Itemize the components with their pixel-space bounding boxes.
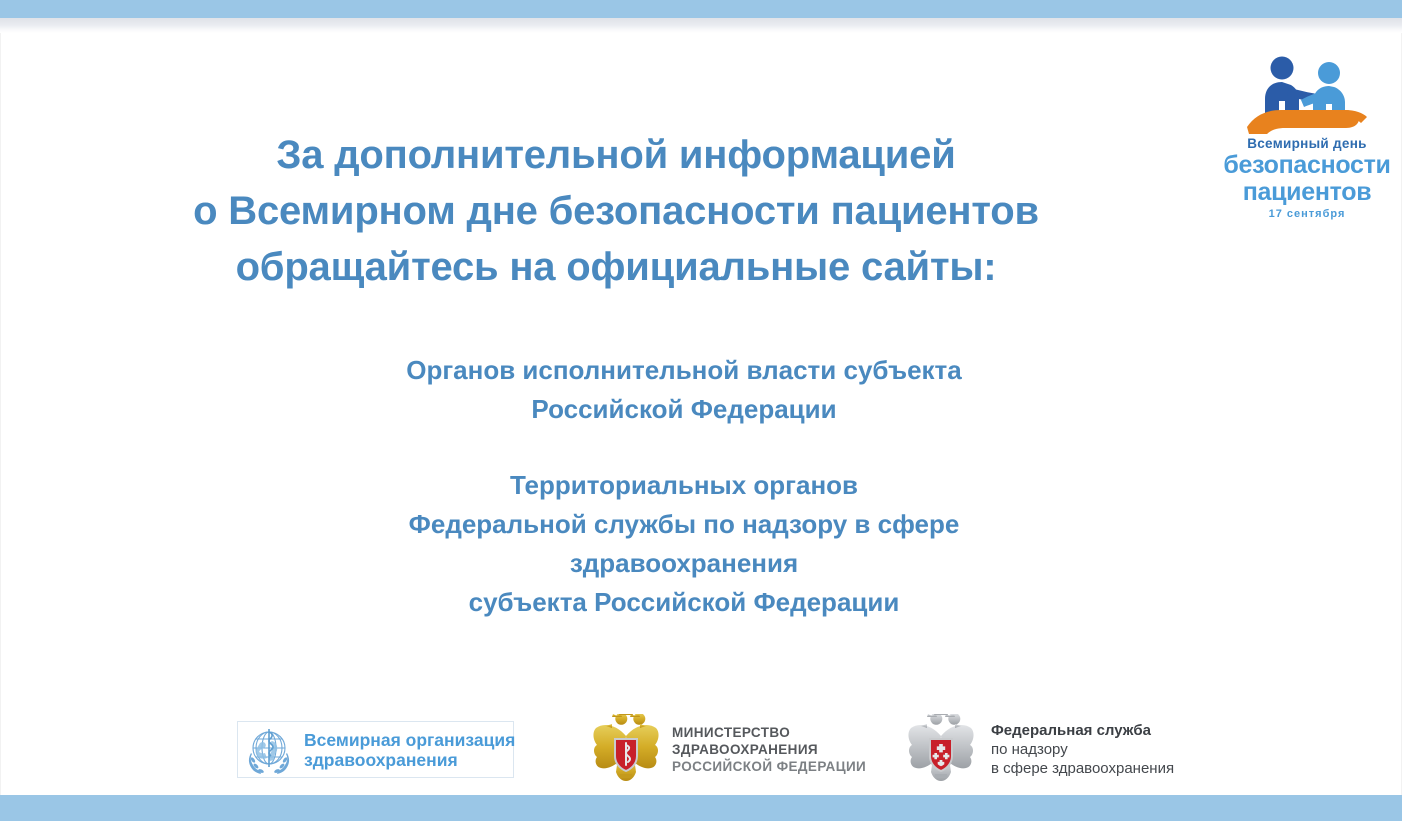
roszdravnadzor-line-3: в сфере здравоохранения <box>991 759 1174 778</box>
ministry-of-health-logo: МИНИСТЕРСТВО ЗДРАВООХРАНЕНИЯ РОССИЙСКОЙ … <box>590 714 870 784</box>
who-logo: Всемирная организация здравоохранения <box>237 721 514 778</box>
two-figures-on-hand-icon <box>1241 55 1373 135</box>
silver-double-headed-eagle-icon <box>905 714 977 784</box>
who-logo-line-2: здравоохранения <box>304 750 515 770</box>
roszdravnadzor-logo-text: Федеральная служба по надзору в сфере зд… <box>991 721 1174 778</box>
paragraph-2-line-1: Территориальных органов <box>1 466 1367 505</box>
ministry-of-health-logo-text: МИНИСТЕРСТВО ЗДРАВООХРАНЕНИЯ РОССИЙСКОЙ … <box>672 724 866 775</box>
footer-logo-strip: Всемирная организация здравоохранения <box>1 673 1402 773</box>
paragraph-2-line-3: здравоохранения <box>1 544 1367 583</box>
wpsd-logo-line-3: пациентов <box>1219 180 1395 205</box>
wpsd-logo-date: 17 сентября <box>1219 209 1395 220</box>
roszdravnadzor-line-2: по надзору <box>991 740 1174 759</box>
roszdravnadzor-line-1: Федеральная служба <box>991 721 1174 740</box>
gold-double-headed-eagle-icon <box>590 714 662 784</box>
world-patient-safety-day-logo: Всемирный день безопасности пациентов 17… <box>1219 55 1395 215</box>
roszdravnadzor-logo: Федеральная служба по надзору в сфере зд… <box>905 714 1205 784</box>
top-accent-bar <box>0 0 1402 18</box>
paragraph-1-line-2: Российской Федерации <box>1 390 1367 429</box>
wpsd-logo-line-1: Всемирный день <box>1219 137 1395 151</box>
who-logo-line-1: Всемирная организация <box>304 730 515 750</box>
slide-title-line-3: обращайтесь на официальные сайты: <box>1 239 1231 295</box>
wpsd-logo-line-2: безопасности <box>1219 153 1395 178</box>
minzdrav-line-2: ЗДРАВООХРАНЕНИЯ <box>672 741 866 758</box>
paragraph-2-line-2: Федеральной службы по надзору в сфере <box>1 505 1367 544</box>
who-logo-text: Всемирная организация здравоохранения <box>304 730 515 770</box>
slide-title: За дополнительной информацией о Всемирно… <box>1 127 1231 295</box>
slide-title-line-1: За дополнительной информацией <box>1 127 1231 183</box>
paragraph-1-line-1: Органов исполнительной власти субъекта <box>1 351 1367 390</box>
who-emblem-icon <box>241 723 297 776</box>
minzdrav-line-1: МИНИСТЕРСТВО <box>672 724 866 741</box>
world-patient-safety-day-logo-text: Всемирный день безопасности пациентов 17… <box>1219 137 1395 220</box>
top-sheen-strip <box>0 18 1402 33</box>
minzdrav-line-3: РОССИЙСКОЙ ФЕДЕРАЦИИ <box>672 758 866 775</box>
body-paragraph-territorial-bodies: Территориальных органов Федеральной служ… <box>1 466 1367 622</box>
slide-title-line-2: о Всемирном дне безопасности пациентов <box>1 183 1231 239</box>
slide-canvas: За дополнительной информацией о Всемирно… <box>0 33 1402 795</box>
bottom-accent-bar <box>0 795 1402 821</box>
body-paragraph-executive-authorities: Органов исполнительной власти субъекта Р… <box>1 351 1367 429</box>
paragraph-2-line-4: субъекта Российской Федерации <box>1 583 1367 622</box>
